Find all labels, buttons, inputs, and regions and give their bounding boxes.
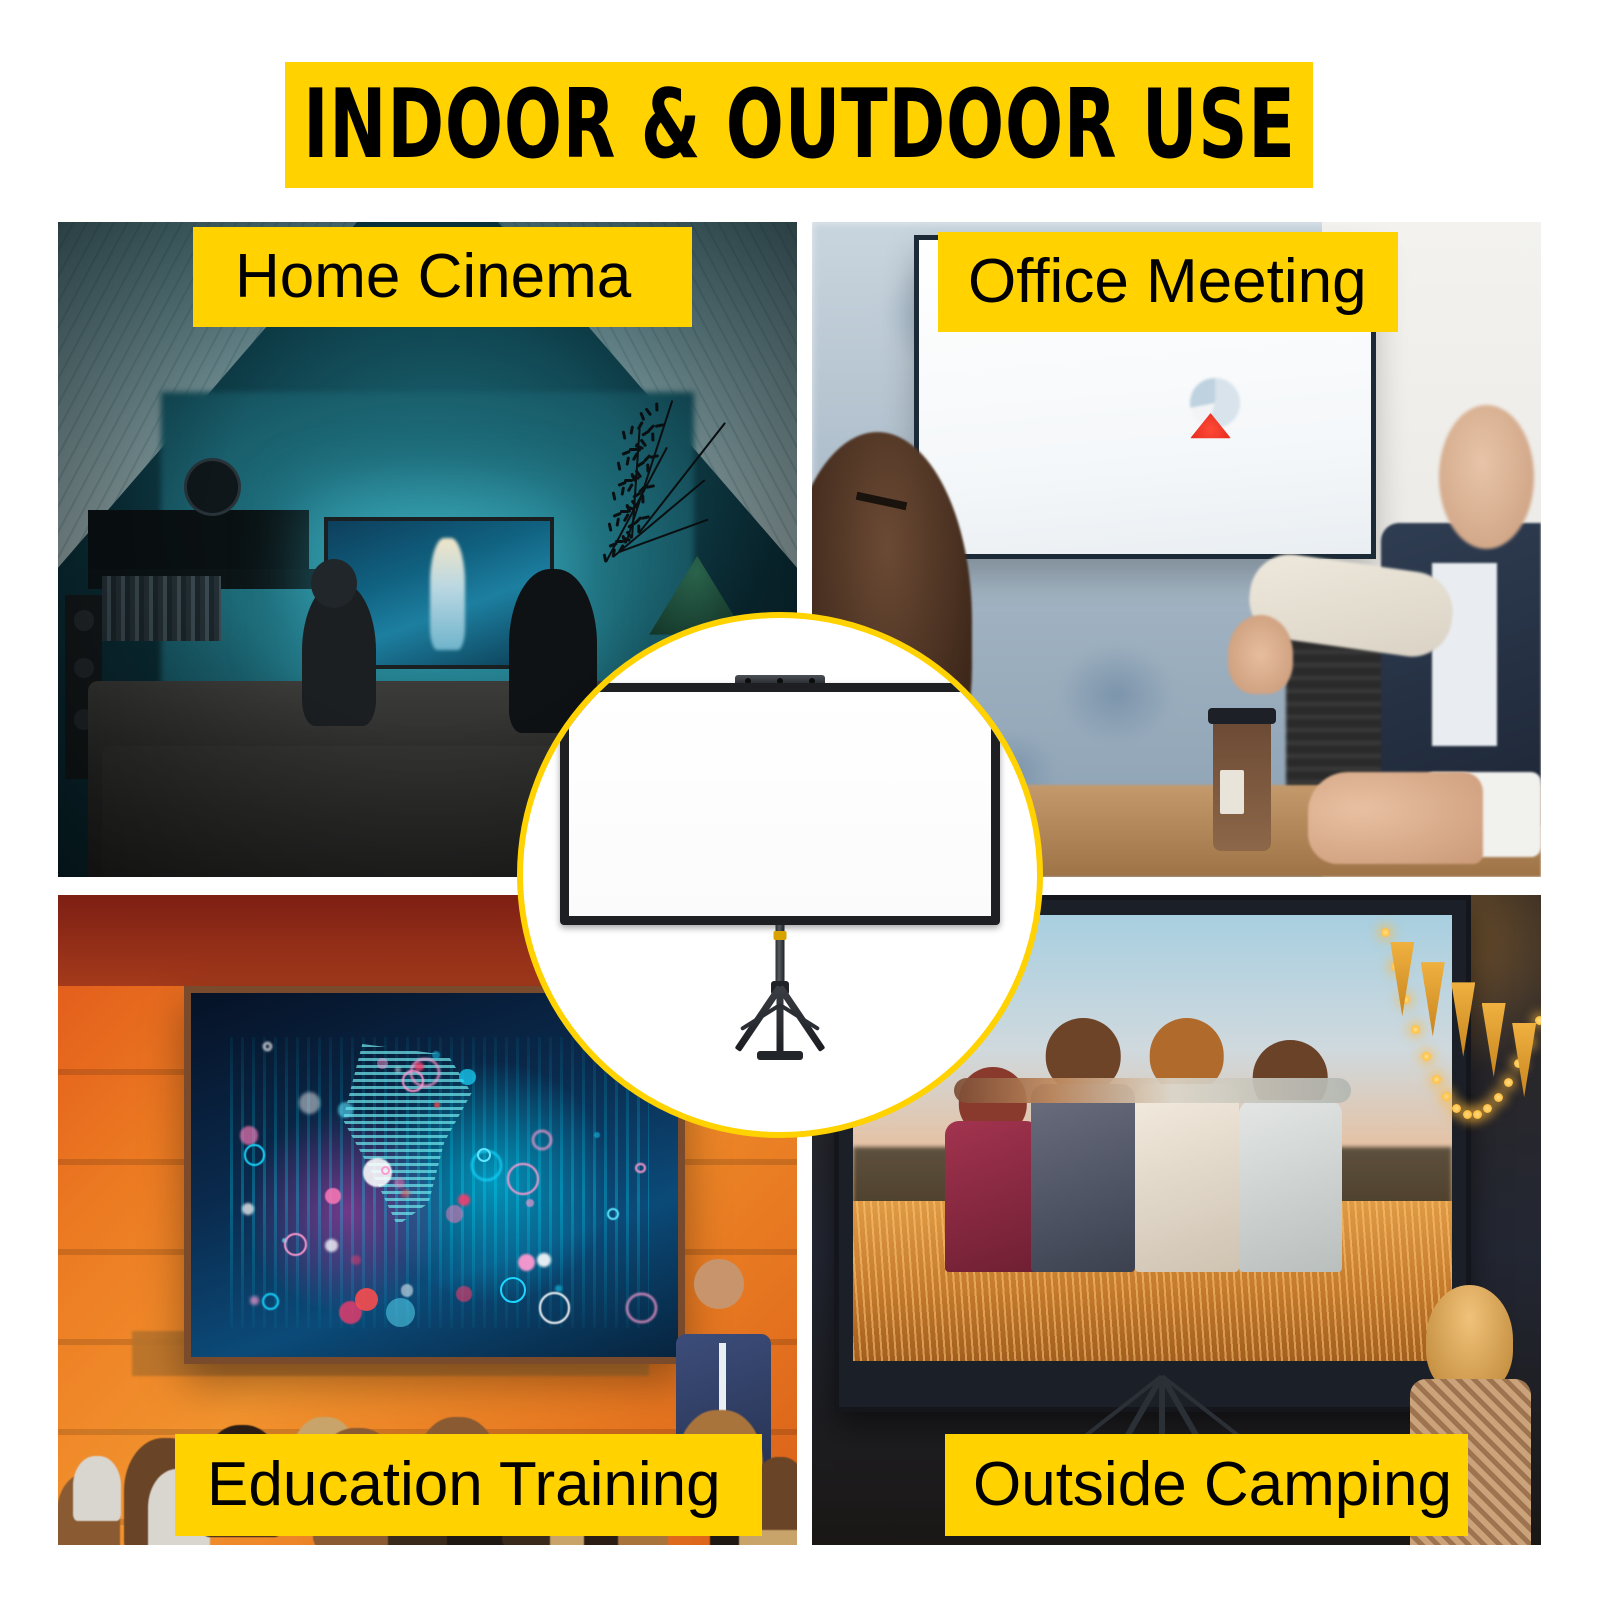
string-light-bulb: [1473, 1110, 1482, 1119]
page-title: INDOOR & OUTDOOR USE: [303, 78, 1296, 173]
string-light-bulb: [1452, 1104, 1461, 1113]
label-outside-camping: Outside Camping: [945, 1434, 1468, 1536]
screen-surface: [569, 692, 991, 916]
product-badge: [517, 612, 1043, 1138]
man-head: [1439, 405, 1534, 549]
label-outside-camping-text: Outside Camping: [973, 1454, 1452, 1516]
bunting-flag: [1451, 982, 1475, 1056]
string-light-bulb: [1381, 928, 1390, 937]
friend-silhouette: [1135, 1018, 1239, 1272]
string-light-bulb: [1442, 1092, 1451, 1101]
label-home-cinema: Home Cinema: [193, 227, 692, 327]
label-education-training-text: Education Training: [207, 1454, 721, 1516]
tripod-leg: [1081, 1374, 1163, 1440]
friend-silhouette: [1031, 1018, 1135, 1272]
viewer-hair: [1426, 1285, 1513, 1394]
infographic-root: INDOOR & OUTDOOR USE: [0, 0, 1600, 1600]
friend-silhouette: [1239, 1040, 1343, 1272]
string-light-bulb: [1432, 1075, 1441, 1084]
string-light-bulb: [1411, 1025, 1420, 1034]
bunting-flag: [1482, 1003, 1506, 1077]
tripod-foot: [757, 1051, 803, 1060]
bunting-flag: [1421, 962, 1445, 1036]
label-education-training: Education Training: [175, 1434, 762, 1536]
string-light-bulb: [1463, 1110, 1472, 1119]
tripod-leg-center: [777, 987, 784, 1059]
label-office-meeting: Office Meeting: [938, 232, 1398, 332]
string-light-bulb: [1483, 1104, 1492, 1113]
resting-hand: [1308, 772, 1483, 864]
height-adjust-knob: [774, 931, 787, 940]
string-light-bulb: [1422, 1052, 1431, 1061]
tripod-leg: [1161, 1374, 1243, 1440]
pointing-hand: [1228, 615, 1294, 694]
string-light-bulb: [1504, 1078, 1513, 1087]
label-office-meeting-text: Office Meeting: [968, 251, 1367, 313]
presenter-head: [694, 1259, 744, 1309]
linked-arms: [954, 1078, 1351, 1103]
tripod-brace-left: [779, 1003, 820, 1031]
projector-screen-icon: [560, 675, 1000, 1075]
title-banner: INDOOR & OUTDOOR USE: [285, 62, 1313, 188]
label-home-cinema-text: Home Cinema: [235, 246, 631, 308]
screen-frame: [560, 683, 1000, 925]
four-friends: [937, 996, 1369, 1273]
string-light-bulb: [1494, 1093, 1503, 1102]
coffee-cup-icon: [1213, 720, 1271, 851]
bunting-flag: [1390, 942, 1414, 1016]
string-lights: [1381, 908, 1541, 1246]
